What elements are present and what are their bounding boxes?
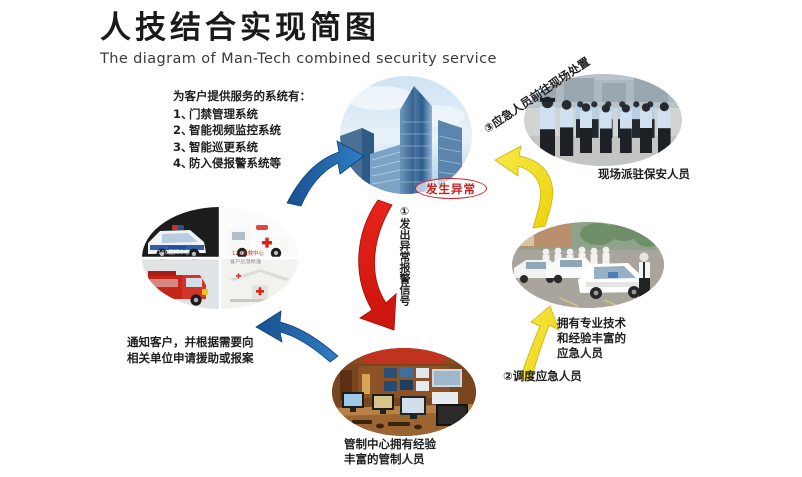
responders-caption: 拥有专业技术 和经验丰富的 应急人员 xyxy=(557,316,626,361)
responders-caption-line1: 拥有专业技术 xyxy=(557,316,626,331)
list-item-number: 3、 xyxy=(173,139,189,156)
list-item-label: 防入侵报警系统等 xyxy=(189,156,281,170)
list-item-label: 门禁管理系统 xyxy=(189,107,258,121)
yellow-arrow-to-guards xyxy=(495,146,553,228)
list-item: 1、门禁管理系统 xyxy=(173,106,348,123)
service-list-heading: 为客户提供服务的系统有： xyxy=(173,88,348,105)
list-item-label: 智能视频监控系统 xyxy=(189,123,281,137)
flow-step-2-label: ②调度应急人员 xyxy=(503,368,582,384)
control-center-caption-line1: 管制中心拥有经验 xyxy=(344,437,436,452)
emergency-services-collage-photo: 110指挥中心 120急救中心 xyxy=(142,207,298,309)
notify-customer-caption: 通知客户，并根据需要向 相关单位申请援助或报案 xyxy=(127,334,302,366)
flow-step-1-label: ①发出异常报警信号 xyxy=(392,205,410,306)
list-item: 4、防入侵报警系统等 xyxy=(173,155,348,172)
service-list-items: 1、门禁管理系统 2、智能视频监控系统 3、智能巡更系统 4、防入侵报警系统等 xyxy=(173,106,348,172)
guards-caption: 现场派驻保安人员 xyxy=(598,166,690,182)
svg-text:120急救中心: 120急救中心 xyxy=(232,249,264,257)
list-item-label: 智能巡更系统 xyxy=(189,140,258,154)
diagram-canvas: 人技结合实现简图 The diagram of Man-Tech combine… xyxy=(0,0,802,477)
list-item-number: 2、 xyxy=(173,122,189,139)
list-item-number: 1、 xyxy=(173,106,189,123)
page-subtitle: The diagram of Man-Tech combined securit… xyxy=(100,49,570,69)
control-center-photo xyxy=(332,348,476,436)
abnormal-status-badge: 发生异常 xyxy=(415,178,487,199)
skyscraper-photo xyxy=(340,76,472,194)
list-item-number: 4、 xyxy=(173,155,189,172)
notify-caption-line1: 通知客户，并根据需要向 xyxy=(127,334,302,350)
list-item: 3、智能巡更系统 xyxy=(173,139,348,156)
svg-text:110指挥中心: 110指挥中心 xyxy=(158,248,190,256)
list-item: 2、智能视频监控系统 xyxy=(173,122,348,139)
notify-caption-line2: 相关单位申请援助或报案 xyxy=(127,350,302,366)
title-block: 人技结合实现简图 The diagram of Man-Tech combine… xyxy=(100,8,570,69)
service-list: 为客户提供服务的系统有： 1、门禁管理系统 2、智能视频监控系统 3、智能巡更系… xyxy=(173,88,348,172)
page-title: 人技结合实现简图 xyxy=(100,8,570,48)
responders-caption-line2: 和经验丰富的 xyxy=(557,331,626,346)
patrol-cars-photo xyxy=(512,222,664,308)
responders-caption-line3: 应急人员 xyxy=(557,346,626,361)
control-center-caption: 管制中心拥有经验 丰富的管制人员 xyxy=(344,437,436,467)
red-arrow-to-control-center xyxy=(359,200,396,330)
control-center-caption-line2: 丰富的管制人员 xyxy=(344,452,436,467)
